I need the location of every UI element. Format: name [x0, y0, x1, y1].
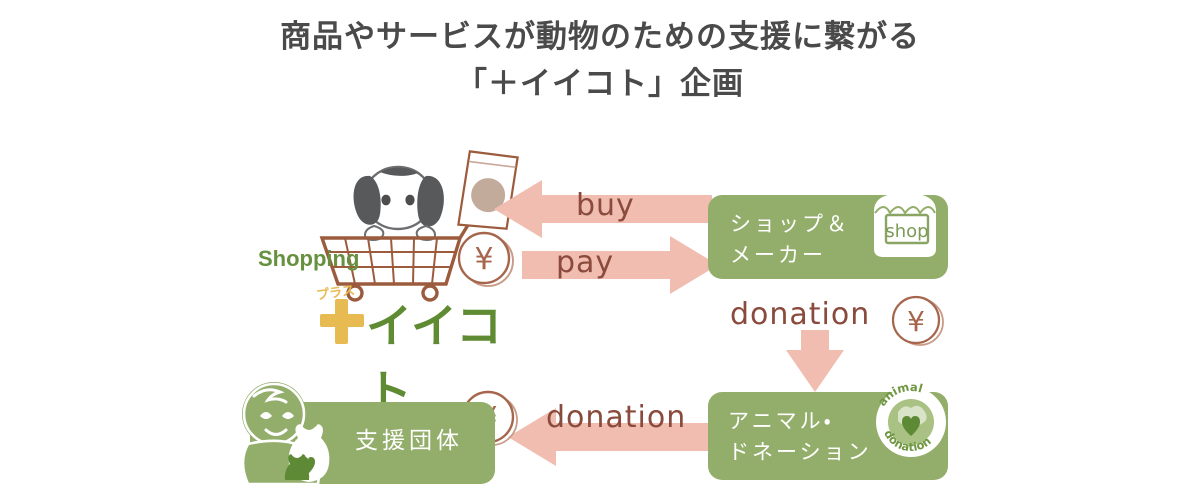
yen-glyph: ¥ [907, 305, 925, 338]
arrow-donation-left-label: donation [546, 400, 686, 435]
arrow-buy-label: buy [576, 188, 635, 223]
plus-iikoto-logo: プラス イイコト [300, 286, 510, 348]
shopping-label: Shopping [258, 246, 359, 272]
yen-glyph: ¥ [474, 242, 493, 277]
node-shop-maker[interactable]: ショップ＆ メーカー shop [708, 195, 948, 279]
person-animals-icon [228, 378, 378, 493]
arrow-pay [522, 236, 718, 294]
node-animal-donation[interactable]: アニマル・ ドネーション animal donation [708, 392, 948, 480]
arrow-donation-down-label: donation [730, 297, 870, 332]
yen-coin-icon-donation-down: ¥ [888, 292, 946, 350]
arrow-pay-label: pay [556, 245, 614, 280]
page-title-line-2: 「＋イイコト」企画 [0, 61, 1200, 108]
shop-sign-text: shop [885, 221, 928, 242]
animal-donation-stamp-icon: animal donation [868, 376, 954, 462]
page-title-line-1: 商品やサービスが動物のための支援に繋がる [0, 14, 1200, 61]
arrow-donation-down [786, 330, 844, 392]
shop-building-icon: shop [866, 187, 944, 263]
diagram-canvas: 商品やサービスが動物のための支援に繋がる 「＋イイコト」企画 [0, 0, 1200, 504]
plus-sign-icon [320, 299, 364, 344]
node-shop-maker-label: ショップ＆ メーカー [730, 209, 850, 271]
page-title: 商品やサービスが動物のための支援に繋がる 「＋イイコト」企画 [0, 14, 1200, 108]
node-animal-donation-label: アニマル・ ドネーション [728, 406, 872, 468]
dog-icon [354, 167, 444, 240]
